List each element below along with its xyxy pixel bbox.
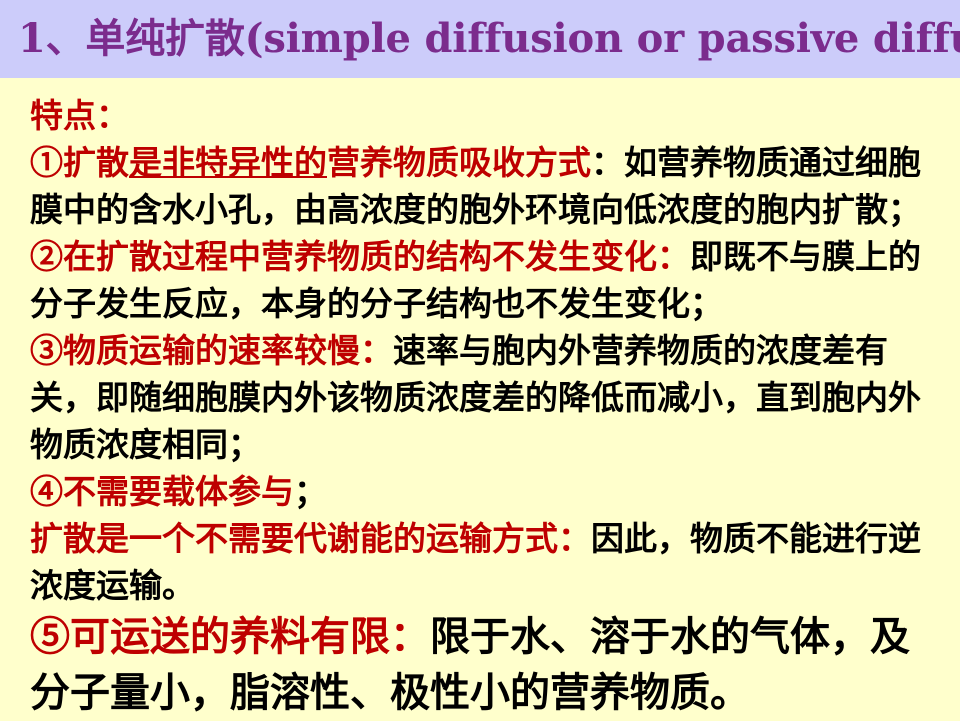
- list-item: ⑤可运送的养料有限：限于水、溶于水的气体，及分子量小，脂溶性、极性小的营养物质。: [30, 609, 946, 721]
- list-item-colon: ：: [657, 237, 690, 276]
- list-item-emphasis-plain: 扩散: [63, 143, 129, 182]
- list-item-emphasis: 在扩散过程中营养物质的结构不发生变化: [63, 237, 657, 276]
- list-item-terminator: ；: [294, 472, 327, 511]
- slide-body: 特点： ①扩散是非特异性的营养物质吸收方式：如营养物质通过细胞膜中的含水小孔，由…: [0, 78, 960, 720]
- list-item-emphasis: 不需要载体参与: [63, 472, 294, 511]
- list-item-marker: ①: [30, 143, 63, 182]
- slide-canvas: 1、单纯扩散(simple diffusion or passive diffu…: [0, 0, 960, 720]
- list-item-colon: ：: [360, 331, 393, 370]
- list-item-emphasis: 可运送的养料有限: [70, 613, 390, 660]
- list-item-marker: ④: [30, 472, 63, 511]
- list-item: ④不需要载体参与；: [30, 468, 946, 515]
- list-item: ③物质运输的速率较慢：速率与胞内外营养物质的浓度差有关，即随细胞膜内外该物质浓度…: [30, 327, 946, 468]
- list-item: ①扩散是非特异性的营养物质吸收方式：如营养物质通过细胞膜中的含水小孔，由高浓度的…: [30, 139, 946, 233]
- list-item-colon: ：: [591, 143, 624, 182]
- list-item-emphasis: 扩散是一个不需要代谢能的运输方式: [30, 519, 558, 558]
- page-title: 1、单纯扩散(simple diffusion or passive diffu…: [0, 16, 960, 62]
- list-item-marker: ②: [30, 237, 63, 276]
- body-heading-text: 特点：: [30, 96, 129, 135]
- slide-title-band: 1、单纯扩散(simple diffusion or passive diffu…: [0, 0, 960, 78]
- list-item-colon: ：: [558, 519, 591, 558]
- list-item: 扩散是一个不需要代谢能的运输方式：因此，物质不能进行逆浓度运输。: [30, 515, 946, 609]
- list-item-marker: ③: [30, 331, 63, 370]
- list-item-emphasis-underlined: 是非特异性的: [129, 143, 327, 182]
- body-heading: 特点：: [30, 92, 946, 139]
- list-item-colon: ：: [390, 613, 430, 660]
- list-item-marker: ⑤: [30, 613, 70, 660]
- list-item-emphasis: 物质运输的速率较慢: [63, 331, 360, 370]
- list-item: ②在扩散过程中营养物质的结构不发生变化：即既不与膜上的分子发生反应，本身的分子结…: [30, 233, 946, 327]
- list-item-emphasis-tail: 营养物质吸收方式: [327, 143, 591, 182]
